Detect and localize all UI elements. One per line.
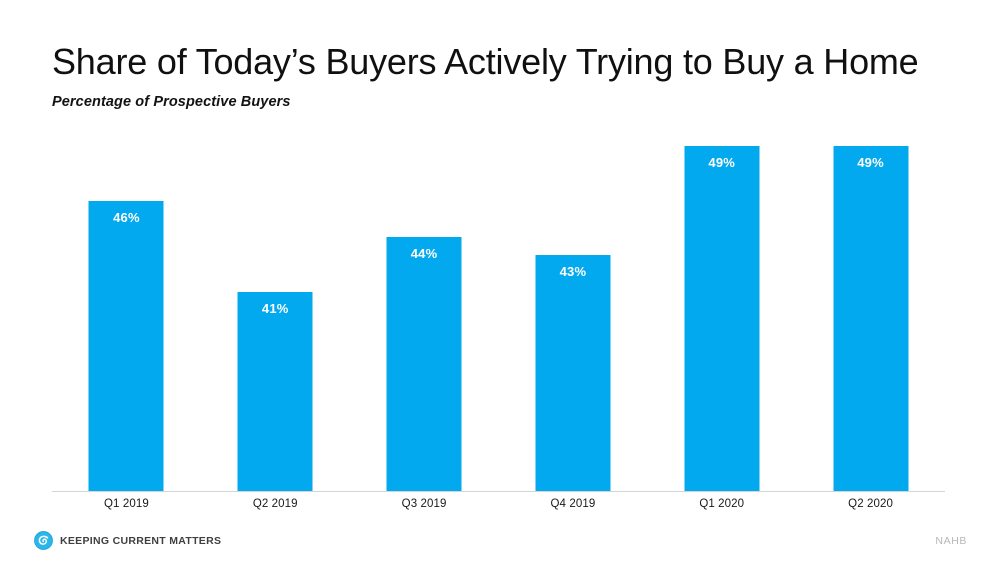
x-tick-q4-2019: Q4 2019: [499, 498, 648, 510]
chart-header: Share of Today’s Buyers Actively Trying …: [52, 42, 960, 110]
kcm-swirl-logo-icon: [34, 531, 53, 550]
bar-q3-2019[interactable]: 44%: [387, 237, 462, 492]
bar-slot: 49%: [796, 128, 945, 492]
bar-value-label: 49%: [833, 155, 908, 170]
bar-slot: 46%: [52, 128, 201, 492]
x-tick-q3-2019: Q3 2019: [350, 498, 499, 510]
x-tick-q2-2019: Q2 2019: [201, 498, 350, 510]
bar-q1-2019[interactable]: 46%: [89, 201, 164, 492]
page-title: Share of Today’s Buyers Actively Trying …: [52, 42, 960, 82]
bar-slot: 43%: [499, 128, 648, 492]
brand-name-label: Keeping Current Matters: [60, 535, 221, 547]
x-tick-q1-2020: Q1 2020: [647, 498, 796, 510]
brand-logo: Keeping Current Matters: [34, 531, 221, 550]
x-tick-q1-2019: Q1 2019: [52, 498, 201, 510]
bar-value-label: 43%: [535, 264, 610, 279]
bar-value-label: 46%: [89, 210, 164, 225]
bar-slot: 44%: [350, 128, 499, 492]
source-attribution: NAHB: [935, 535, 967, 547]
slide-footer: Keeping Current Matters NAHB: [0, 511, 1000, 563]
bar-series: 46%41%44%43%49%49%: [52, 128, 945, 492]
chart-plot-area: 46%41%44%43%49%49%: [52, 128, 945, 492]
bar-q1-2020[interactable]: 49%: [684, 146, 759, 492]
bar-q4-2019[interactable]: 43%: [535, 255, 610, 492]
bar-value-label: 44%: [387, 246, 462, 261]
bar-value-label: 41%: [238, 301, 313, 316]
chart-subtitle: Percentage of Prospective Buyers: [52, 94, 960, 110]
x-tick-q2-2020: Q2 2020: [796, 498, 945, 510]
x-axis-line: [52, 491, 945, 492]
bar-slot: 49%: [647, 128, 796, 492]
bar-value-label: 49%: [684, 155, 759, 170]
bar-q2-2020[interactable]: 49%: [833, 146, 908, 492]
slide-canvas: Share of Today’s Buyers Actively Trying …: [0, 0, 1000, 563]
bar-q2-2019[interactable]: 41%: [238, 292, 313, 492]
bar-slot: 41%: [201, 128, 350, 492]
